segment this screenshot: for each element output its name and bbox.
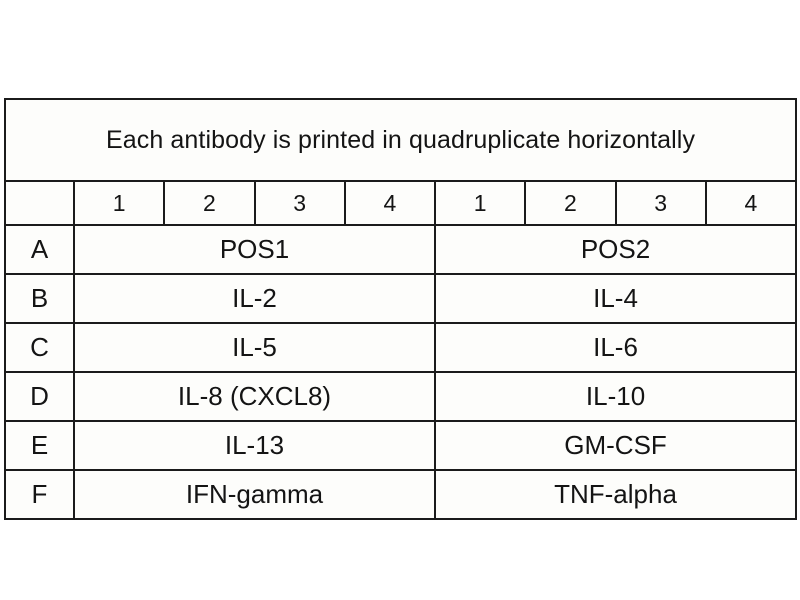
table-title: Each antibody is printed in quadruplicat… — [5, 99, 796, 181]
array-layout-table: Each antibody is printed in quadruplicat… — [4, 98, 797, 520]
table-row: C IL-5 IL-6 — [5, 323, 796, 372]
analyte-cell-e-right: GM-CSF — [435, 421, 796, 470]
row-label-e: E — [5, 421, 74, 470]
analyte-cell-a-left: POS1 — [74, 225, 435, 274]
analyte-cell-d-right: IL-10 — [435, 372, 796, 421]
analyte-cell-c-left: IL-5 — [74, 323, 435, 372]
replicate-header-left-3: 3 — [255, 181, 345, 225]
analyte-cell-e-left: IL-13 — [74, 421, 435, 470]
corner-empty-cell — [5, 181, 74, 225]
replicate-header-right-3: 3 — [616, 181, 706, 225]
row-label-c: C — [5, 323, 74, 372]
row-label-d: D — [5, 372, 74, 421]
replicate-header-left-2: 2 — [164, 181, 254, 225]
table-row: E IL-13 GM-CSF — [5, 421, 796, 470]
replicate-header-right-4: 4 — [706, 181, 796, 225]
table-row: F IFN-gamma TNF-alpha — [5, 470, 796, 519]
analyte-cell-a-right: POS2 — [435, 225, 796, 274]
row-label-a: A — [5, 225, 74, 274]
table-row: D IL-8 (CXCL8) IL-10 — [5, 372, 796, 421]
replicate-header-left-4: 4 — [345, 181, 435, 225]
replicate-header-right-1: 1 — [435, 181, 525, 225]
analyte-cell-b-right: IL-4 — [435, 274, 796, 323]
analyte-cell-f-right: TNF-alpha — [435, 470, 796, 519]
row-label-b: B — [5, 274, 74, 323]
analyte-cell-f-left: IFN-gamma — [74, 470, 435, 519]
analyte-cell-d-left: IL-8 (CXCL8) — [74, 372, 435, 421]
analyte-cell-b-left: IL-2 — [74, 274, 435, 323]
analyte-cell-c-right: IL-6 — [435, 323, 796, 372]
replicate-header-right-2: 2 — [525, 181, 615, 225]
replicate-header-left-1: 1 — [74, 181, 164, 225]
row-label-f: F — [5, 470, 74, 519]
title-row: Each antibody is printed in quadruplicat… — [5, 99, 796, 181]
table-row: B IL-2 IL-4 — [5, 274, 796, 323]
antibody-array-map: Each antibody is printed in quadruplicat… — [4, 98, 795, 506]
table-row: A POS1 POS2 — [5, 225, 796, 274]
replicate-header-row: 1 2 3 4 1 2 3 4 — [5, 181, 796, 225]
